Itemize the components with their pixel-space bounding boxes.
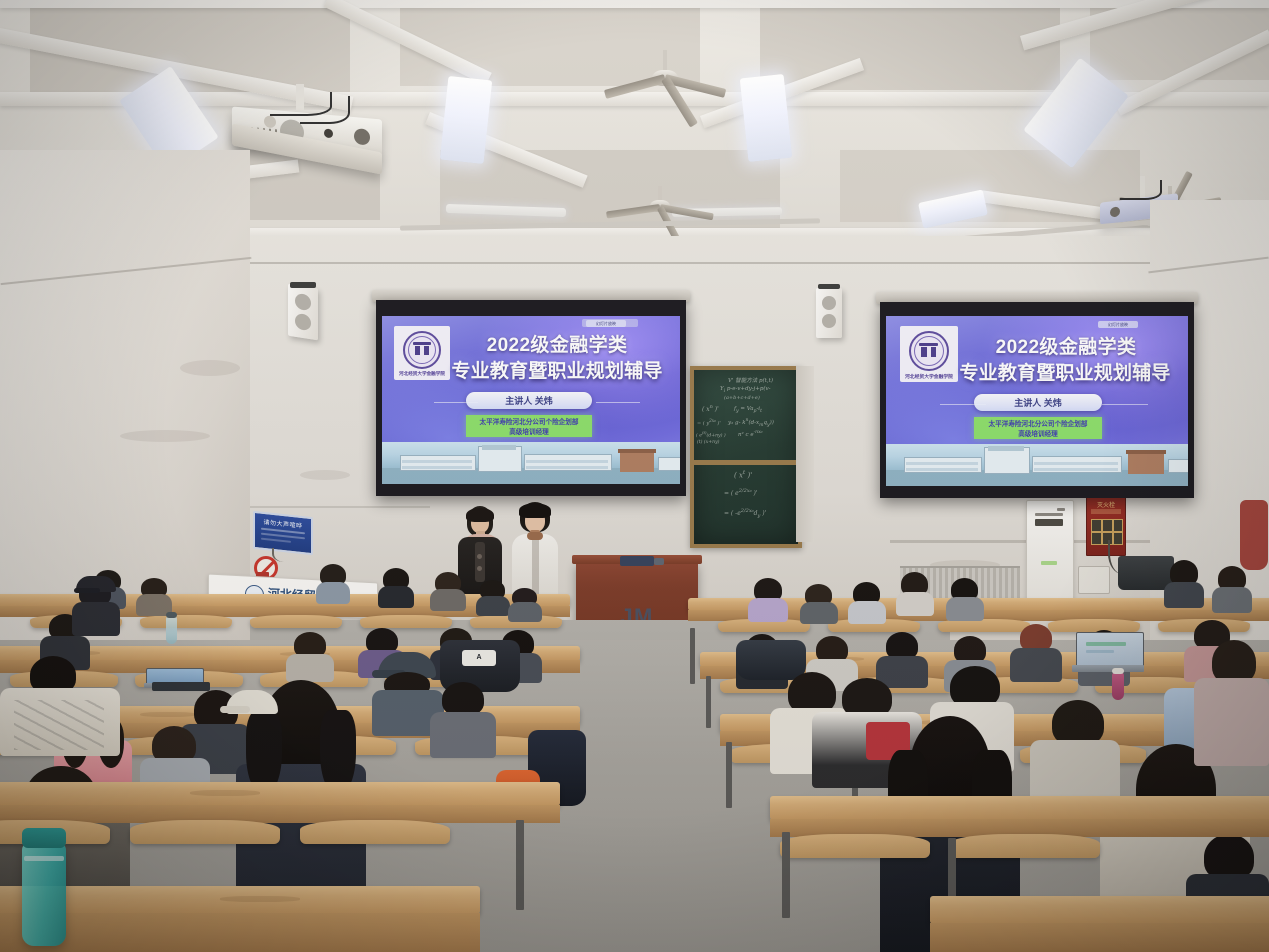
student <box>1164 560 1204 606</box>
slide-affiliation-line1: 太平洋寿险河北分公司个险企划部 <box>989 418 1088 428</box>
student <box>476 580 510 610</box>
student <box>316 564 350 600</box>
student <box>430 572 466 606</box>
slide-campus-photo <box>382 442 680 484</box>
student-graphic-hoodie <box>0 656 120 752</box>
wall-speaker <box>288 284 318 341</box>
student <box>378 568 414 604</box>
speaker-bracket <box>290 282 316 288</box>
backpack-logo: A <box>462 650 496 666</box>
desk-row-foreground-left <box>0 782 560 852</box>
presentation-slide-right: 幻灯片放映 河北经贸大学金融学院 2022级金融学类 专业教育暨职业规划辅导 主… <box>886 316 1188 486</box>
slide-ui-badge-text: 幻灯片放映 <box>596 321 616 327</box>
slide-affiliation-highlight: 太平洋寿险河北分公司个险企划部 高级培训经理 <box>466 415 592 437</box>
wall-seam <box>250 262 1150 264</box>
fire-poster-title: 灭火栓 <box>1087 500 1125 509</box>
student-white-cap <box>220 690 284 736</box>
tablet[interactable] <box>152 682 210 691</box>
desk-leg <box>782 832 790 918</box>
presentation-slide-left: 幻灯片放映 河北经贸大学金融学院 2022级金融学类 专业教育暨职业规划辅导 主… <box>382 316 680 484</box>
desk-row-nearest-right <box>930 896 1269 952</box>
slide-title-line2: 专业教育暨职业规划辅导 <box>438 356 676 383</box>
laptop[interactable] <box>1072 632 1144 676</box>
slide-affiliation-line2: 高级培训经理 <box>1018 428 1058 438</box>
ceiling-light-tube <box>740 74 793 162</box>
desk-leg <box>690 628 695 684</box>
student <box>848 582 886 620</box>
slide-affiliation-line1: 太平洋寿险河北分公司个险企划部 <box>480 416 579 426</box>
ceiling-light-tube <box>440 76 493 164</box>
slide-title-line1: 2022级金融学类 <box>960 332 1172 359</box>
student-redhair <box>1010 624 1062 680</box>
student <box>508 588 542 616</box>
student <box>896 572 934 614</box>
slide-ui-badge: 幻灯片放映 <box>586 320 626 327</box>
slide-speaker-pill: 主讲人 关炜 <box>974 394 1102 411</box>
student <box>286 632 334 678</box>
slide-speaker-pill: 主讲人 关炜 <box>466 392 592 409</box>
desk-row-nearest-left <box>0 886 480 952</box>
podium-control-unit <box>620 556 654 566</box>
slide-campus-photo <box>886 444 1188 486</box>
student <box>1194 640 1269 760</box>
projector-cable <box>1120 180 1162 200</box>
hanging-coat <box>1240 500 1268 570</box>
slide-title-line2: 专业教育暨职业规划辅导 <box>944 358 1186 385</box>
projection-screen-right: 幻灯片放映 河北经贸大学金融学院 2022级金融学类 专业教育暨职业规划辅导 主… <box>880 302 1194 498</box>
student <box>748 578 788 618</box>
lecture-hall-photo: 请勿大声喧哗 河北经贸大学 HEBEI UNIVERSITY OF ECONOM… <box>0 0 1269 952</box>
ceiling-fan <box>600 50 730 110</box>
blackboard: V' 智能方法 p(t,t) Yi p-e-v+dy-j+p(v- (a+b+c… <box>690 366 802 548</box>
bottle-cap <box>166 612 177 618</box>
wall-outlet-box[interactable] <box>1078 566 1110 594</box>
desk-leg <box>706 676 711 728</box>
water-bottle[interactable] <box>166 616 177 644</box>
school-emblem-icon <box>909 331 949 371</box>
student-with-white-cap <box>378 652 448 692</box>
school-emblem-icon <box>403 331 441 369</box>
water-bottle[interactable] <box>1112 672 1124 700</box>
desk-leg <box>726 742 732 808</box>
slide-speaker-label: 主讲人 关炜 <box>505 394 553 407</box>
bottle-cap[interactable] <box>22 828 66 848</box>
desk-row-foreground-right <box>770 796 1269 866</box>
podium-microphone-base <box>654 558 664 565</box>
slide-ui-badge: 幻灯片放映 <box>1098 321 1138 328</box>
student <box>430 682 496 754</box>
student <box>800 584 838 620</box>
projector-cable <box>300 96 350 124</box>
projection-screen-left: 幻灯片放映 河北经贸大学金融学院 2022级金融学类 专业教育暨职业规划辅导 主… <box>376 300 686 496</box>
ceiling-fan <box>600 186 720 236</box>
slide-speaker-label: 主讲人 关炜 <box>1014 396 1062 409</box>
student <box>136 578 172 610</box>
slide-affiliation-highlight: 太平洋寿险河北分公司个险企划部 高级培训经理 <box>974 417 1102 439</box>
student <box>946 578 984 618</box>
slide-affiliation-line2: 高级培训经理 <box>509 426 549 436</box>
slide-title-line1: 2022级金融学类 <box>452 330 662 357</box>
wall-seam <box>250 506 430 508</box>
student-with-cap <box>72 576 120 634</box>
wall-cabinet <box>1026 500 1074 608</box>
bottle-band <box>24 856 64 861</box>
bottle-cap <box>1112 668 1124 674</box>
desk-leg <box>516 820 524 910</box>
wall-speaker <box>816 288 842 338</box>
board-side-wall <box>796 366 814 542</box>
slide-ui-badge-text: 幻灯片放映 <box>1108 322 1128 328</box>
speaker-bracket <box>818 284 840 289</box>
student <box>1212 566 1252 610</box>
